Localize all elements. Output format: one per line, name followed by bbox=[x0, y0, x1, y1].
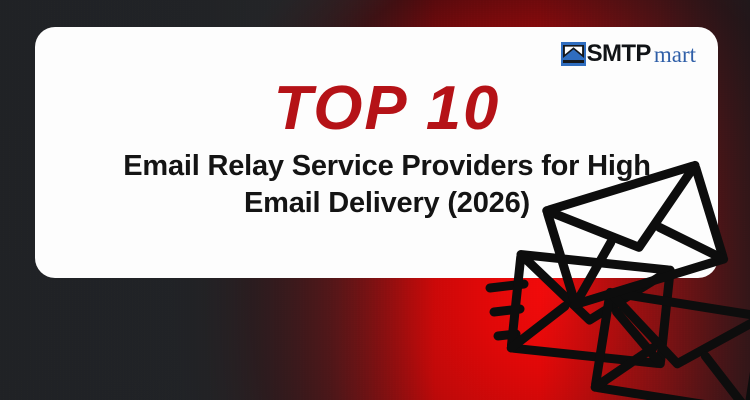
envelope-base-bar bbox=[563, 60, 584, 63]
eyebrow-top-10: TOP 10 bbox=[81, 77, 693, 140]
logo-text-smtp: SMTP bbox=[587, 42, 651, 66]
content-card: SMTP mart TOP 10 Email Relay Service Pro… bbox=[35, 27, 718, 278]
headline-block: TOP 10 Email Relay Service Providers for… bbox=[87, 77, 687, 222]
promo-banner: SMTP mart TOP 10 Email Relay Service Pro… bbox=[0, 0, 750, 400]
page-title-line-1: Email Relay Service Providers for High bbox=[123, 150, 651, 182]
logo-text-mart: mart bbox=[654, 43, 696, 66]
envelope-m-icon bbox=[561, 42, 586, 66]
page-title-line-2: Email Delivery (2026) bbox=[244, 187, 530, 219]
page-title: Email Relay Service Providers for High E… bbox=[87, 148, 687, 222]
brand-logo[interactable]: SMTP mart bbox=[561, 39, 696, 69]
envelope-flap-shape bbox=[563, 45, 584, 58]
